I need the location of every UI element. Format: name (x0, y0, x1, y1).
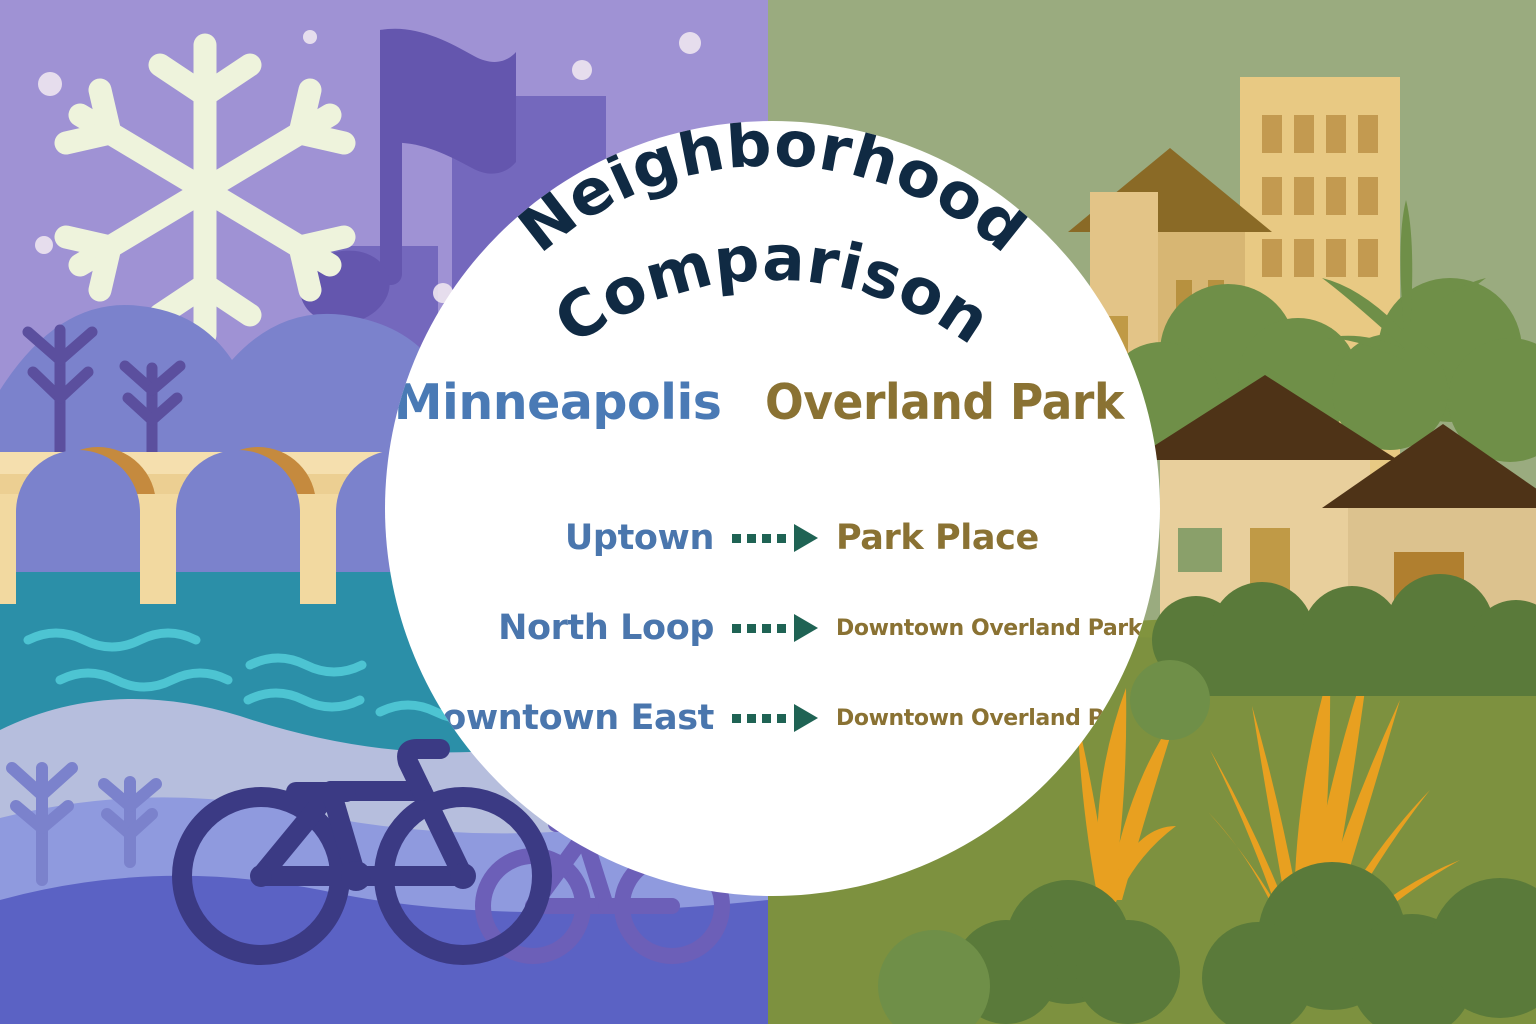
arrow-dash (747, 624, 756, 633)
arrow-dash (762, 624, 771, 633)
infographic-canvas: Neighborhood Comparison Minneapolis Over… (0, 0, 1536, 1024)
arrow-dash (732, 534, 741, 543)
row-right-neighborhood: Downtown Overland Park (818, 616, 1148, 641)
dashed-arrow-right-icon (732, 615, 818, 641)
comparison-row: North Loop Downtown Overland Park (385, 583, 1160, 673)
arrow-head (794, 614, 818, 642)
comparison-row: Downtown East Downtown Overland Park (385, 673, 1160, 763)
arrow-dash (777, 714, 786, 723)
arrow-dash (777, 624, 786, 633)
header-left-city: Minneapolis (394, 374, 722, 431)
comparison-row: Uptown Park Place (385, 493, 1160, 583)
row-right-neighborhood: Park Place (818, 518, 1148, 558)
comparison-rows: Uptown Park Place North Loop (385, 493, 1160, 763)
title-line-2: Comparison (542, 221, 1003, 358)
arrow-head (794, 704, 818, 732)
arrow-dash (732, 624, 741, 633)
row-right-neighborhood: Downtown Overland Park (818, 706, 1148, 731)
arrow-dash (747, 714, 756, 723)
header-right-city: Overland Park (765, 374, 1124, 431)
dashed-arrow-right-icon (732, 705, 818, 731)
arrow-dash (777, 534, 786, 543)
row-left-neighborhood: Downtown East (397, 698, 732, 738)
dashed-arrow-right-icon (732, 525, 818, 551)
arrow-dash (732, 714, 741, 723)
row-left-neighborhood: North Loop (397, 608, 732, 648)
city-headers: Minneapolis Overland Park (385, 374, 1160, 431)
comparison-card: Neighborhood Comparison Minneapolis Over… (385, 121, 1160, 896)
row-left-neighborhood: Uptown (397, 518, 732, 558)
arrow-dash (762, 714, 771, 723)
arrow-dash (747, 534, 756, 543)
arrow-dash (762, 534, 771, 543)
arrow-head (794, 524, 818, 552)
